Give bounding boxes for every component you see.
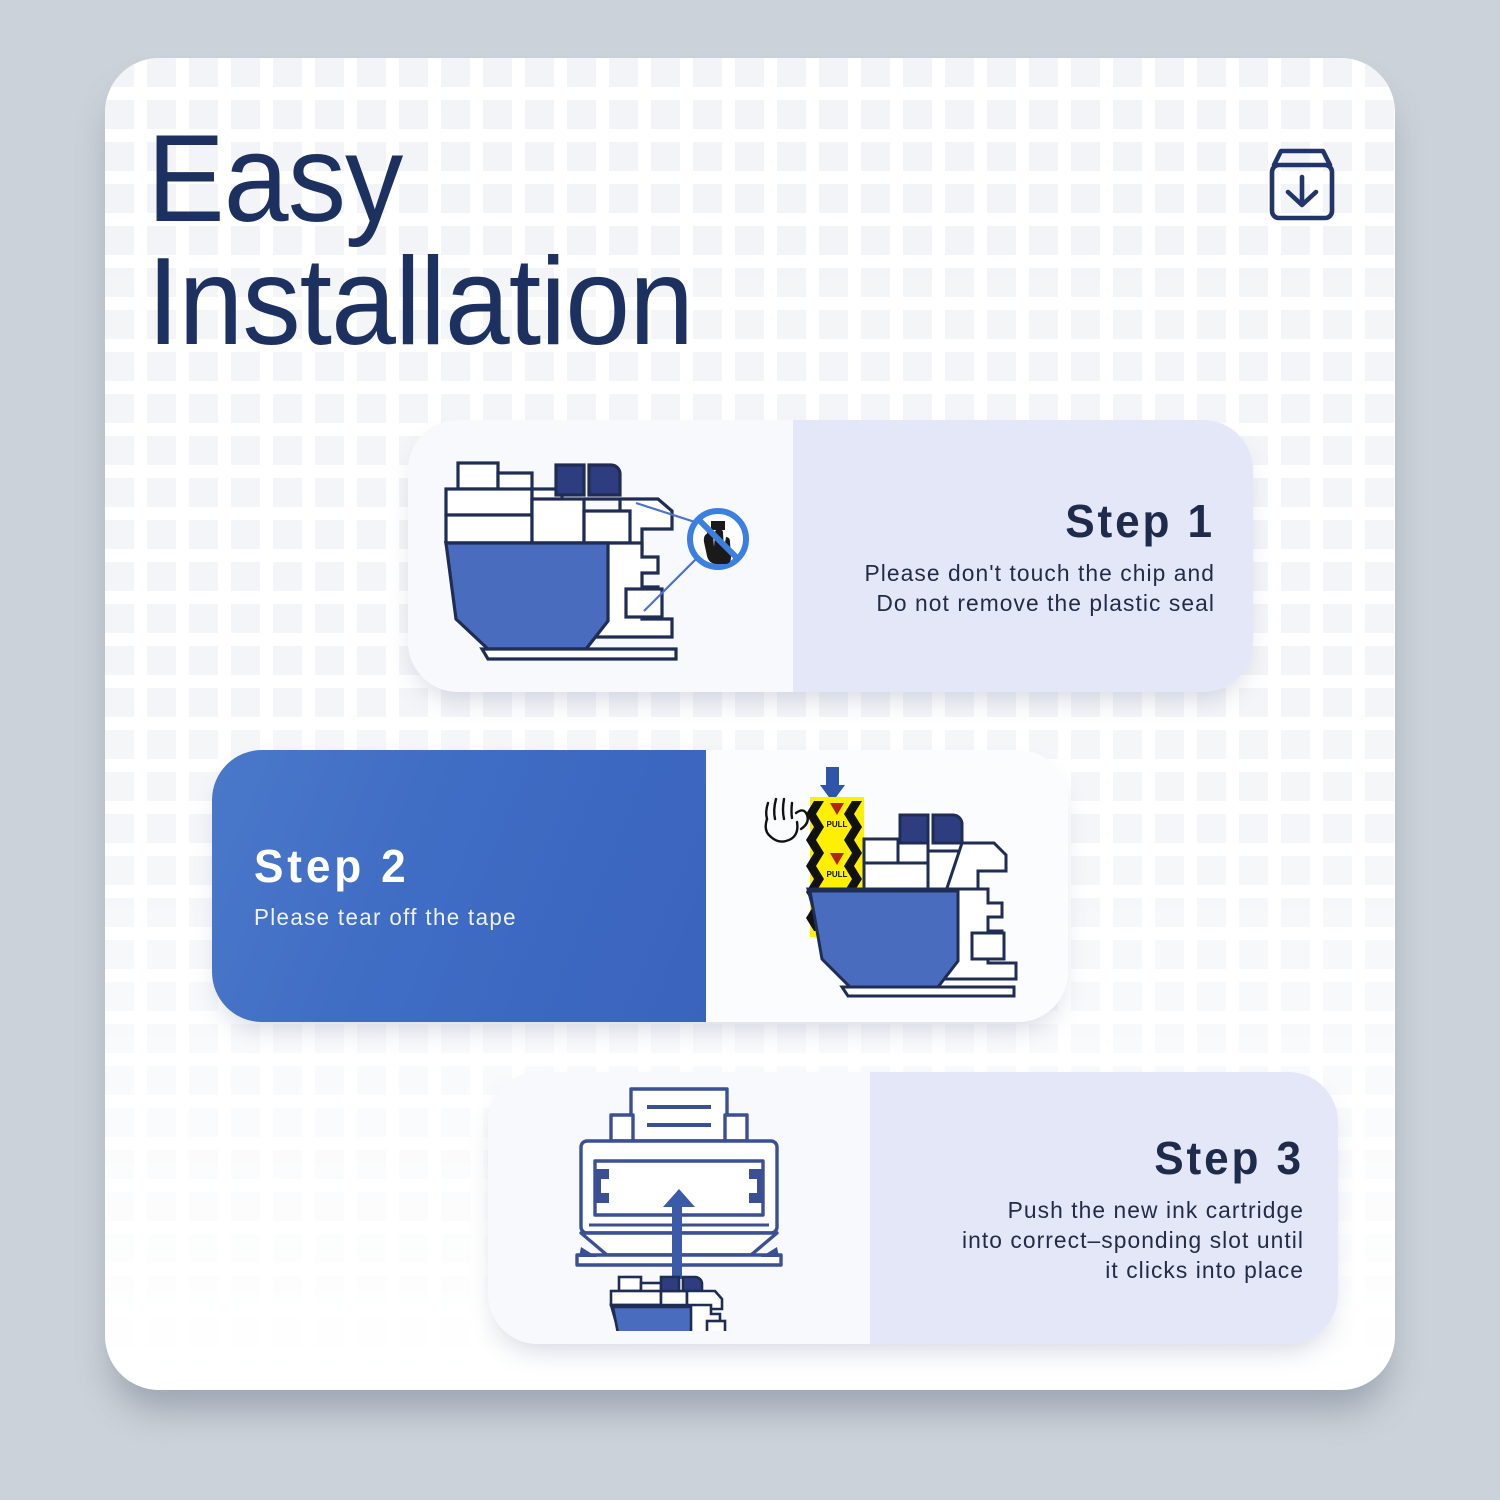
step-panel-2: Step 2 Please tear off the tape bbox=[212, 750, 1068, 1022]
page-title: Easy Installation bbox=[147, 118, 1047, 364]
hand-icon bbox=[766, 799, 808, 842]
step-1-heading: Step 1 bbox=[810, 494, 1215, 548]
step-3-illustration bbox=[488, 1072, 870, 1344]
down-arrow-icon bbox=[820, 767, 845, 802]
step-2-description: Please tear off the tape bbox=[254, 903, 692, 932]
title-line-2: Installation bbox=[147, 241, 993, 364]
step-1-description: Please don't touch the chip and Do not r… bbox=[806, 558, 1215, 618]
poster-stage: Easy Installation bbox=[0, 0, 1500, 1500]
step-panel-3: Step 3 Push the new ink cartridge into c… bbox=[488, 1072, 1338, 1344]
cartridge-pull-tape-icon: PULL PULL PULL bbox=[722, 761, 1052, 1011]
tape-label: PULL bbox=[827, 870, 848, 879]
step-1-illustration bbox=[408, 420, 793, 692]
step-3-heading: Step 3 bbox=[887, 1131, 1304, 1185]
content-card: Easy Installation bbox=[105, 58, 1395, 1390]
step-panel-1: Step 1 Please don't touch the chip and D… bbox=[408, 420, 1253, 692]
tape-label: PULL bbox=[827, 820, 848, 829]
printer-insert-cartridge-icon bbox=[559, 1085, 799, 1331]
box-download-icon[interactable] bbox=[1259, 142, 1345, 228]
step-2-text-block: Step 2 Please tear off the tape bbox=[212, 750, 706, 1022]
step-3-text-block: Step 3 Push the new ink cartridge into c… bbox=[870, 1072, 1338, 1344]
step-3-description: Push the new ink cartridge into correct–… bbox=[883, 1195, 1304, 1285]
no-touch-icon bbox=[690, 511, 746, 567]
title-line-1: Easy bbox=[147, 118, 993, 241]
step-2-heading: Step 2 bbox=[254, 839, 688, 893]
step-2-illustration: PULL PULL PULL bbox=[706, 750, 1068, 1022]
cartridge-no-touch-icon bbox=[436, 451, 766, 661]
step-1-text-block: Step 1 Please don't touch the chip and D… bbox=[793, 420, 1253, 692]
